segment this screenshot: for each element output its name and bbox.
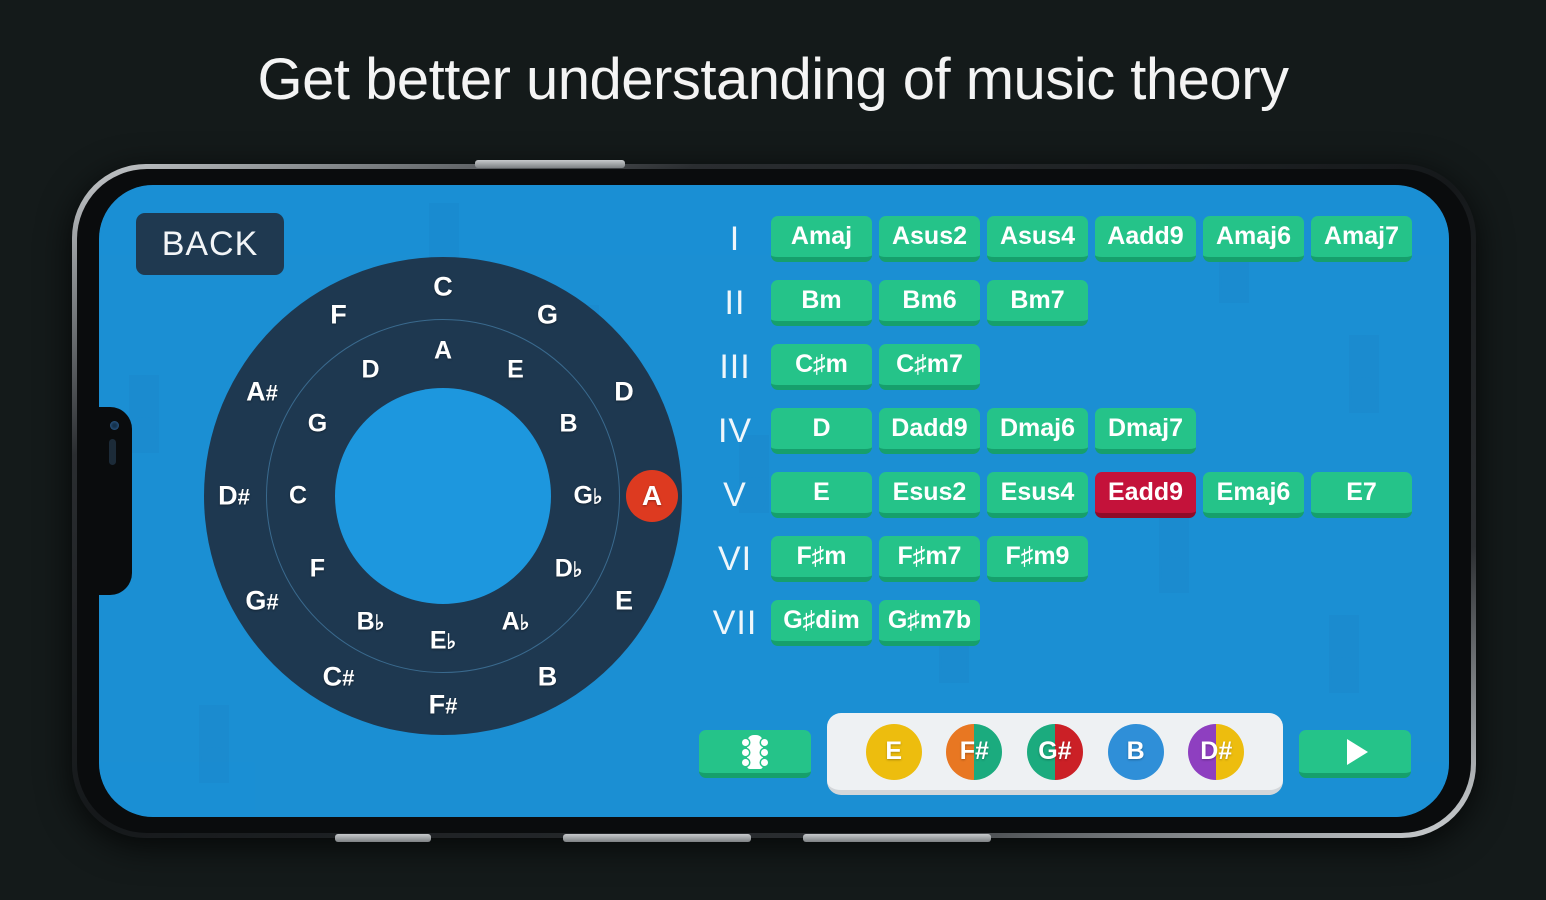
chord-button[interactable]: E7 <box>1311 472 1412 518</box>
chord-row-numeral: V <box>699 476 771 515</box>
circle-outer-note-C[interactable]: C <box>433 272 453 303</box>
note-pill[interactable]: E <box>866 724 922 780</box>
chord-button[interactable]: Eadd9 <box>1095 472 1196 518</box>
phone-device-frame: BACK CGDAEBF#C#G#D#A#F AEBG♭D♭A♭E♭B♭FCGD… <box>72 164 1476 838</box>
circle-outer-note-Csharp[interactable]: C# <box>323 661 355 692</box>
power-button[interactable] <box>335 834 431 842</box>
chord-button[interactable]: Asus2 <box>879 216 980 262</box>
note-pill-label: B <box>1127 737 1145 766</box>
chord-button[interactable]: Bm <box>771 280 872 326</box>
chord-button[interactable]: Emaj6 <box>1203 472 1304 518</box>
guitar-watermark-icon <box>129 375 159 453</box>
circle-inner-hole <box>335 388 551 604</box>
chord-row-numeral: III <box>699 348 771 387</box>
note-pill[interactable]: B <box>1108 724 1164 780</box>
circle-inner-note-A[interactable]: A <box>434 337 452 366</box>
circle-inner-note-F[interactable]: F <box>310 554 325 583</box>
circle-outer-note-A[interactable]: A <box>626 470 678 522</box>
chord-row: IAmajAsus2Asus4Aadd9Amaj6Amaj7 <box>699 207 1411 271</box>
note-pill-label: E <box>885 737 902 766</box>
circle-inner-note-C[interactable]: C <box>289 482 307 511</box>
front-camera-icon <box>110 421 119 430</box>
chord-button[interactable]: Amaj6 <box>1203 216 1304 262</box>
chord-button[interactable]: F♯m7 <box>879 536 980 582</box>
chord-button[interactable]: G♯dim <box>771 600 872 646</box>
chord-button[interactable]: F♯m <box>771 536 872 582</box>
circle-of-fifths[interactable]: CGDAEBF#C#G#D#A#F AEBG♭D♭A♭E♭B♭FCGD <box>204 257 682 735</box>
fretboard-button[interactable] <box>699 730 811 778</box>
chord-row-numeral: VII <box>699 604 771 643</box>
chord-button[interactable]: Amaj7 <box>1311 216 1412 262</box>
circle-outer-note-D[interactable]: D <box>614 376 634 407</box>
chord-button[interactable]: Bm7 <box>987 280 1088 326</box>
circle-outer-note-G[interactable]: G <box>537 300 558 331</box>
circle-inner-note-Gflat[interactable]: G♭ <box>573 482 602 511</box>
circle-outer-note-Gsharp[interactable]: G# <box>245 585 278 616</box>
chord-button[interactable]: Dadd9 <box>879 408 980 454</box>
chord-row: VEEsus2Esus4Eadd9Emaj6E7 <box>699 463 1411 527</box>
chord-row-numeral: II <box>699 284 771 323</box>
chord-button[interactable]: Amaj <box>771 216 872 262</box>
play-button[interactable] <box>1299 730 1411 778</box>
chord-row: IVDDadd9Dmaj6Dmaj7 <box>699 399 1411 463</box>
chord-grid: IAmajAsus2Asus4Aadd9Amaj6Amaj7IIBmBm6Bm7… <box>699 207 1411 655</box>
circle-outer-note-F[interactable]: F <box>330 300 347 331</box>
chord-button[interactable]: C♯m <box>771 344 872 390</box>
circle-outer-note-E[interactable]: E <box>615 585 633 616</box>
chord-row: IIIC♯mC♯m7 <box>699 335 1411 399</box>
phone-bezel: BACK CGDAEBF#C#G#D#A#F AEBG♭D♭A♭E♭B♭FCGD… <box>77 169 1471 833</box>
page-headline: Get better understanding of music theory <box>0 46 1546 113</box>
earpiece-speaker <box>109 439 116 465</box>
circle-outer-note-Dsharp[interactable]: D# <box>218 481 250 512</box>
play-icon <box>1347 739 1368 765</box>
note-pill[interactable]: F# <box>946 724 1002 780</box>
device-notch <box>99 407 132 595</box>
volume-down-button[interactable] <box>803 834 991 842</box>
volume-up-button[interactable] <box>563 834 751 842</box>
chord-button[interactable]: G♯m7b <box>879 600 980 646</box>
chord-row: IIBmBm6Bm7 <box>699 271 1411 335</box>
chord-row-numeral: I <box>699 220 771 259</box>
note-pill[interactable]: G# <box>1027 724 1083 780</box>
chord-button[interactable]: D <box>771 408 872 454</box>
note-pill-label: G# <box>1038 737 1071 766</box>
chord-button[interactable]: Bm6 <box>879 280 980 326</box>
chord-button[interactable]: Esus4 <box>987 472 1088 518</box>
chord-button[interactable]: E <box>771 472 872 518</box>
chord-row: VIF♯mF♯m7F♯m9 <box>699 527 1411 591</box>
chord-row-numeral: VI <box>699 540 771 579</box>
back-button-label: BACK <box>162 225 259 264</box>
chord-button[interactable]: F♯m9 <box>987 536 1088 582</box>
circle-inner-note-Bflat[interactable]: B♭ <box>357 607 385 636</box>
note-pill-label: D# <box>1200 737 1232 766</box>
guitar-headstock-icon <box>742 735 768 769</box>
circle-inner-note-G[interactable]: G <box>308 409 327 438</box>
chord-button[interactable]: Asus4 <box>987 216 1088 262</box>
volume-button-top[interactable] <box>475 160 625 168</box>
circle-outer-note-B[interactable]: B <box>538 661 558 692</box>
circle-inner-note-B[interactable]: B <box>560 409 578 438</box>
chord-button[interactable]: Dmaj6 <box>987 408 1088 454</box>
circle-outer-note-Fsharp[interactable]: F# <box>429 690 458 721</box>
note-pill-label: F# <box>960 737 989 766</box>
circle-inner-note-Dflat[interactable]: D♭ <box>555 554 583 583</box>
note-pill[interactable]: D# <box>1188 724 1244 780</box>
chord-row: VIIG♯dimG♯m7b <box>699 591 1411 655</box>
circle-inner-note-D[interactable]: D <box>361 356 379 385</box>
chord-row-numeral: IV <box>699 412 771 451</box>
circle-outer-note-Asharp[interactable]: A# <box>246 376 278 407</box>
chord-button[interactable]: C♯m7 <box>879 344 980 390</box>
chord-button[interactable]: Esus2 <box>879 472 980 518</box>
chord-button[interactable]: Aadd9 <box>1095 216 1196 262</box>
back-button[interactable]: BACK <box>136 213 284 275</box>
bottom-toolbar: EF#G#BD# <box>699 713 1411 795</box>
active-notes-panel: EF#G#BD# <box>827 713 1283 795</box>
circle-inner-note-Eflat[interactable]: E♭ <box>430 627 456 656</box>
circle-inner-note-Aflat[interactable]: A♭ <box>502 607 530 636</box>
app-screen: BACK CGDAEBF#C#G#D#A#F AEBG♭D♭A♭E♭B♭FCGD… <box>99 185 1449 817</box>
circle-inner-note-E[interactable]: E <box>507 356 524 385</box>
chord-button[interactable]: Dmaj7 <box>1095 408 1196 454</box>
